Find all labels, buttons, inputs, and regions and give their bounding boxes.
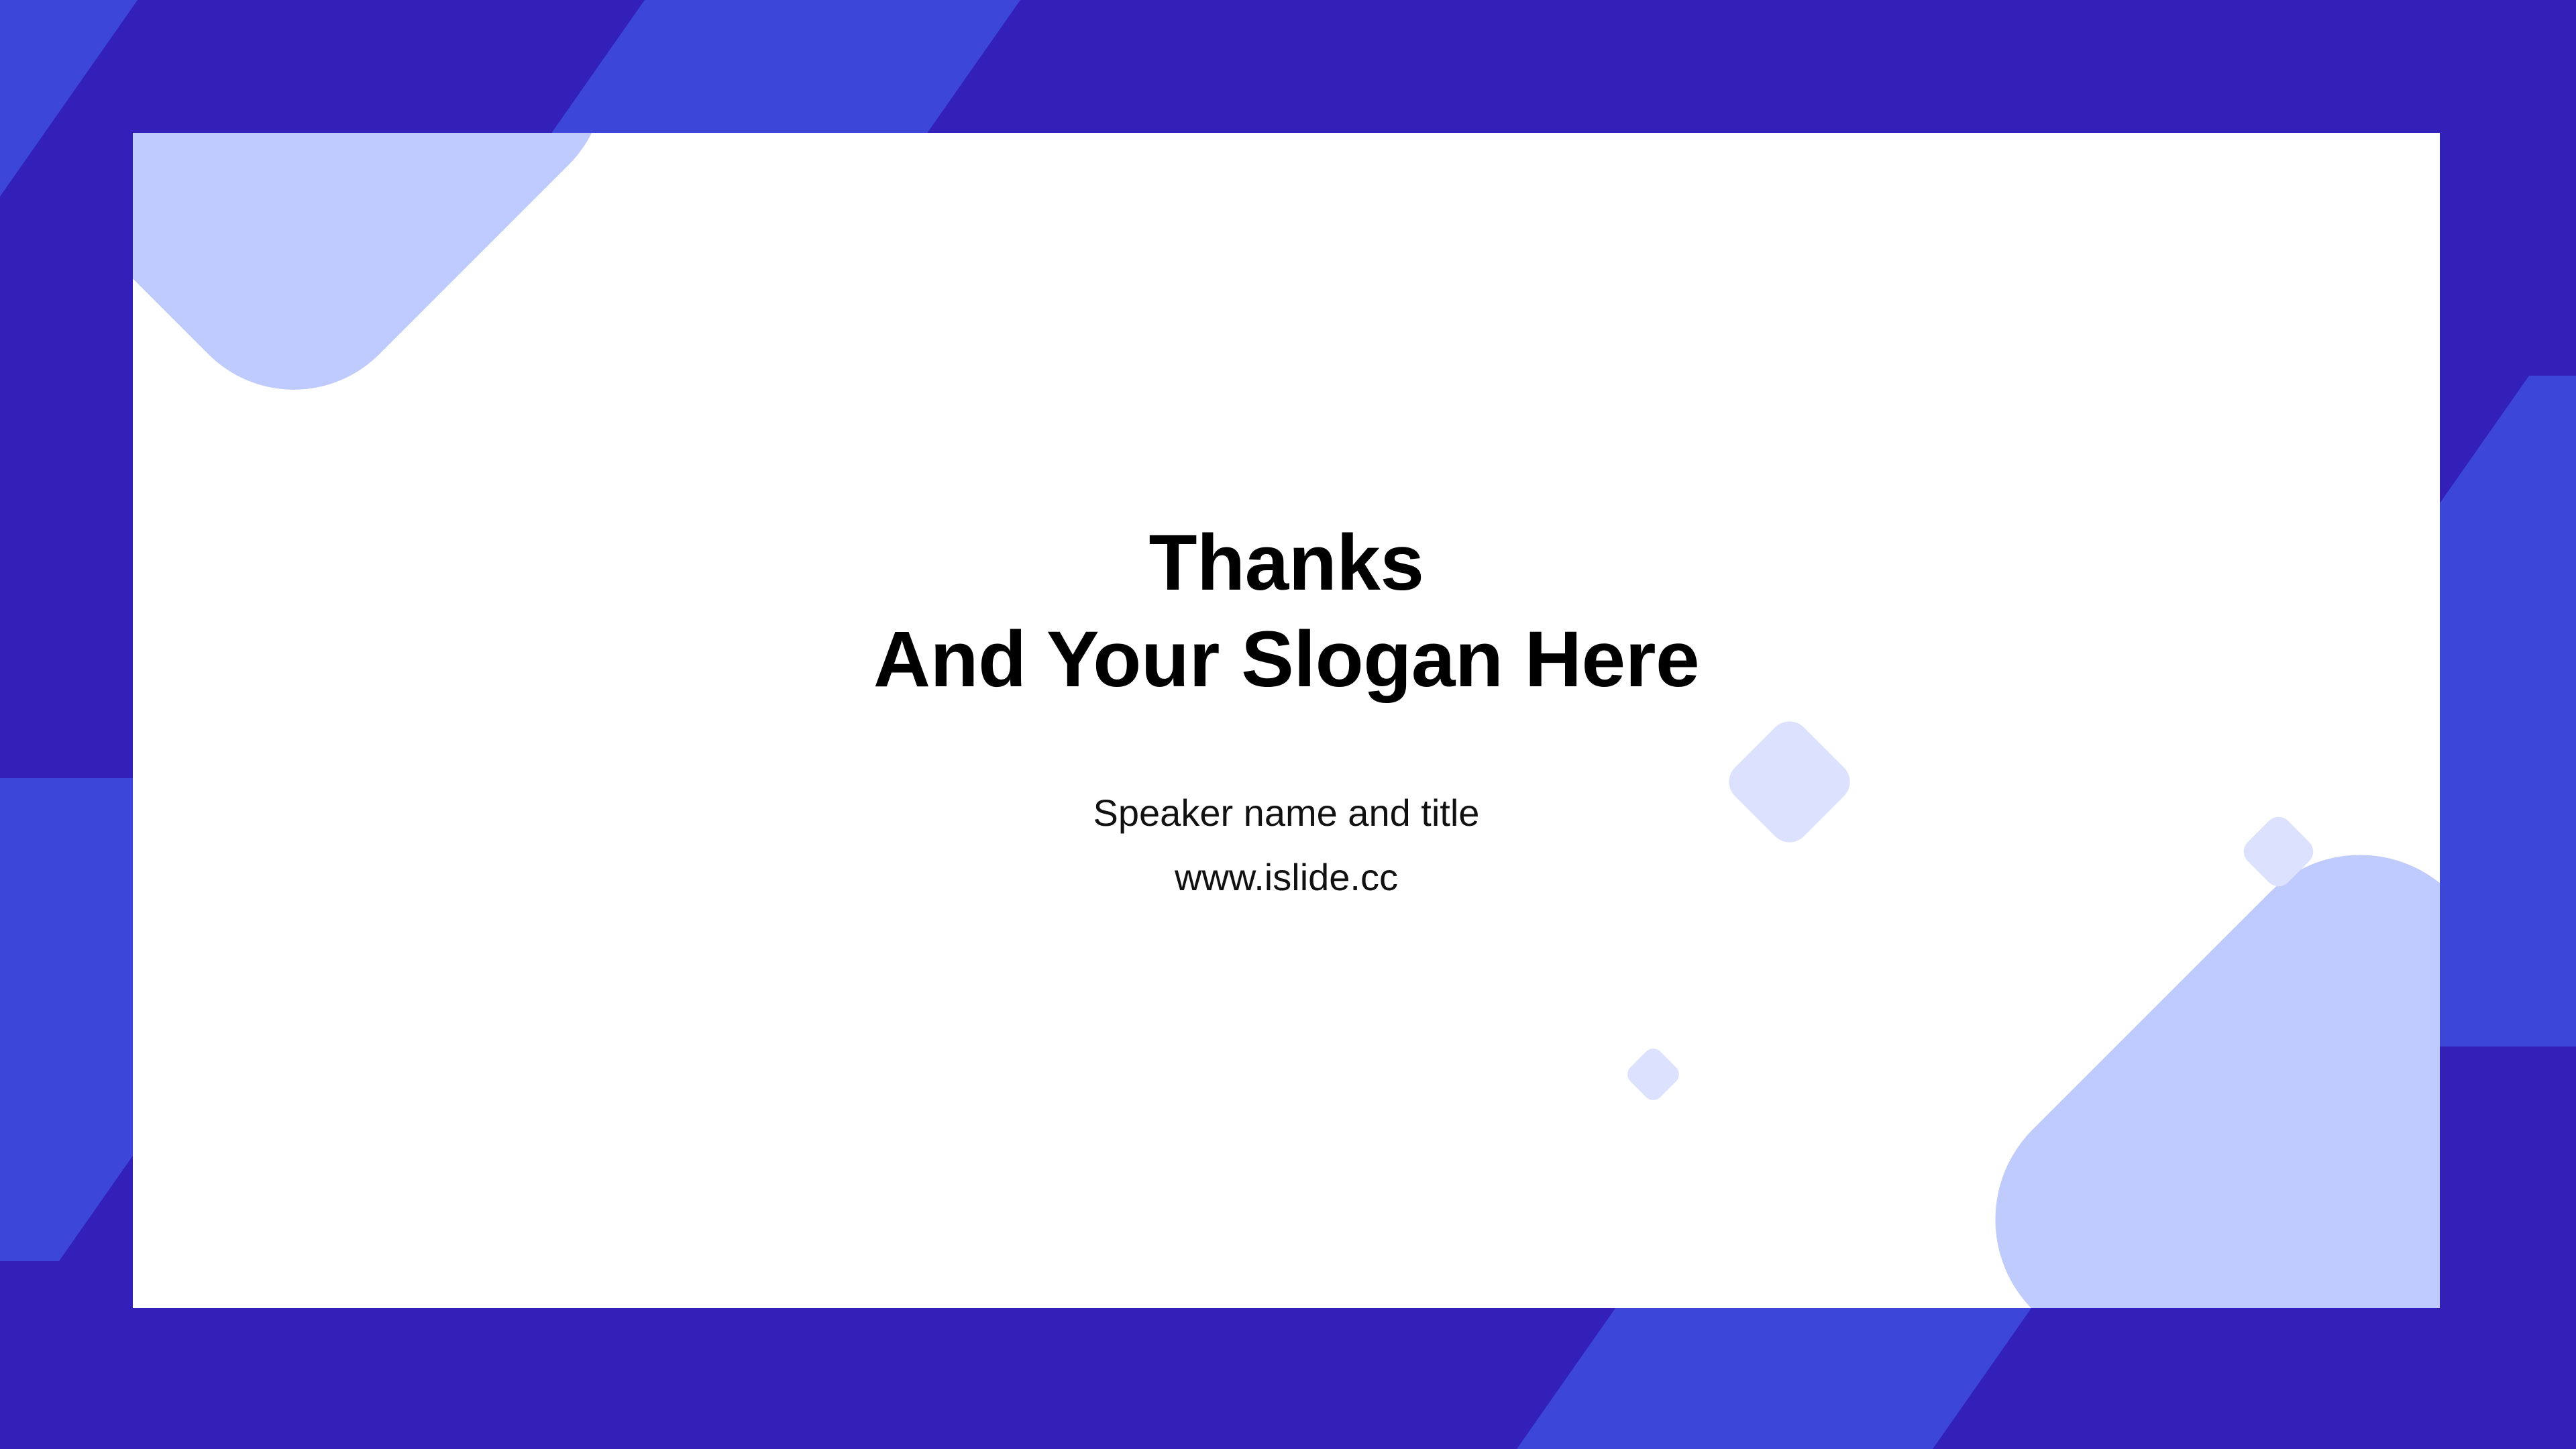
slide-subtitle-group: Speaker name and title www.islide.cc	[133, 781, 2440, 910]
presentation-slide: Thanks And Your Slogan Here Speaker name…	[0, 0, 2576, 1449]
slide-title-line-2: And Your Slogan Here	[133, 612, 2440, 708]
slide-content-card: Thanks And Your Slogan Here Speaker name…	[133, 133, 2440, 1308]
slide-text-block: Thanks And Your Slogan Here Speaker name…	[133, 133, 2440, 910]
website-url: www.islide.cc	[133, 845, 2440, 910]
diamond-small-icon	[1623, 1044, 1683, 1104]
slide-title-line-1: Thanks	[133, 515, 2440, 612]
speaker-name-and-title: Speaker name and title	[133, 781, 2440, 845]
diagonal-stripe-bottom-center	[1479, 1301, 2036, 1449]
